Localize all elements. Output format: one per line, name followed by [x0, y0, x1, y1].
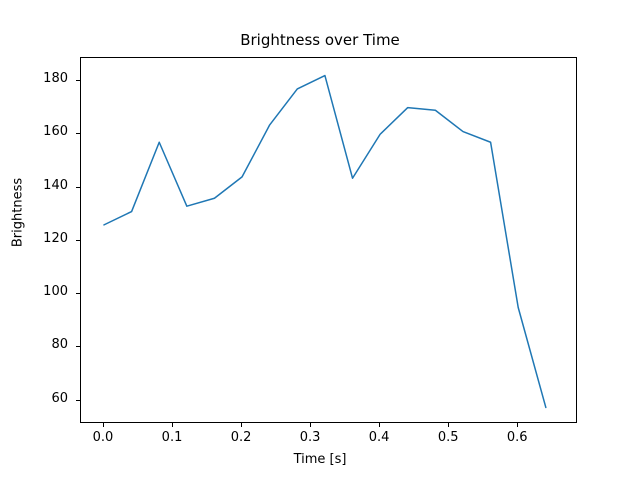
y-tick-label: 80 — [8, 337, 68, 352]
figure-canvas: Brightness over Time 6080100120140160180… — [0, 0, 640, 480]
y-axis-label: Brightness — [11, 93, 26, 333]
x-axis-label: Time [s] — [0, 452, 640, 467]
x-tick-label: 0.6 — [487, 430, 547, 445]
plot-svg — [81, 58, 578, 424]
y-tick-label: 60 — [8, 391, 68, 406]
y-tick-label: 180 — [8, 71, 68, 86]
chart-title: Brightness over Time — [0, 31, 640, 49]
x-tick-label: 0.0 — [73, 430, 133, 445]
plot-axes-area — [80, 57, 577, 423]
x-tick-label: 0.4 — [349, 430, 409, 445]
x-tick-label: 0.1 — [142, 430, 202, 445]
x-tick-label: 0.3 — [280, 430, 340, 445]
brightness-line-series — [104, 76, 546, 408]
x-tick-label: 0.5 — [418, 430, 478, 445]
x-tick-label: 0.2 — [211, 430, 271, 445]
